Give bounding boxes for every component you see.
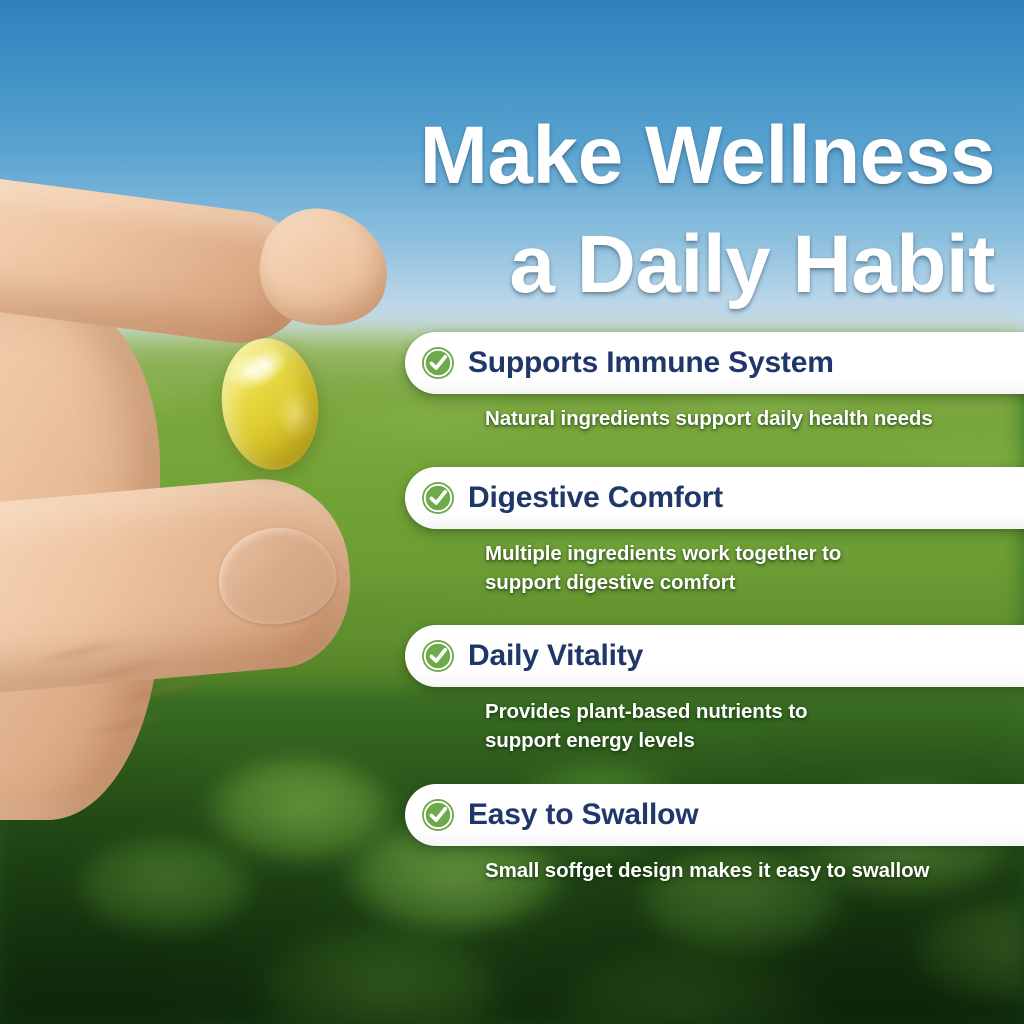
check-circle-icon <box>421 481 455 515</box>
page-title: Make Wellness a Daily Habit <box>175 101 995 319</box>
benefit-item: Easy to Swallow Small soffget design mak… <box>405 784 1024 885</box>
caption-line: Small soffget design makes it easy to sw… <box>485 856 1005 885</box>
benefit-caption: Multiple ingredients work together to su… <box>485 539 1005 597</box>
caption-line: Natural ingredients support daily health… <box>485 404 1005 433</box>
benefit-title: Supports Immune System <box>468 346 834 380</box>
check-circle-icon <box>421 798 455 832</box>
check-circle-icon <box>421 639 455 673</box>
caption-line: Provides plant-based nutrients to <box>485 697 1005 726</box>
caption-line: support energy levels <box>485 726 1005 755</box>
benefit-item: Daily Vitality Provides plant-based nutr… <box>405 625 1024 755</box>
benefit-card: Supports Immune System <box>405 332 1024 394</box>
headline-line-2: a Daily Habit <box>175 210 995 319</box>
wellness-promo-poster: Make Wellness a Daily Habit Supports Imm… <box>0 0 1024 1024</box>
benefit-caption: Small soffget design makes it easy to sw… <box>485 856 1005 885</box>
benefit-title: Digestive Comfort <box>468 481 723 515</box>
benefit-card: Digestive Comfort <box>405 467 1024 529</box>
caption-line: Multiple ingredients work together to <box>485 539 1005 568</box>
benefits-list: Supports Immune System Natural ingredien… <box>405 332 1024 885</box>
caption-line: support digestive comfort <box>485 568 1005 597</box>
benefit-caption: Natural ingredients support daily health… <box>485 404 1005 433</box>
benefit-card: Easy to Swallow <box>405 784 1024 846</box>
benefit-card: Daily Vitality <box>405 625 1024 687</box>
benefit-title: Daily Vitality <box>468 639 643 673</box>
benefit-caption: Provides plant-based nutrients to suppor… <box>485 697 1005 755</box>
benefit-title: Easy to Swallow <box>468 798 698 832</box>
headline-line-1: Make Wellness <box>175 101 995 210</box>
benefit-item: Digestive Comfort Multiple ingredients w… <box>405 467 1024 597</box>
benefit-item: Supports Immune System Natural ingredien… <box>405 332 1024 433</box>
check-circle-icon <box>421 346 455 380</box>
